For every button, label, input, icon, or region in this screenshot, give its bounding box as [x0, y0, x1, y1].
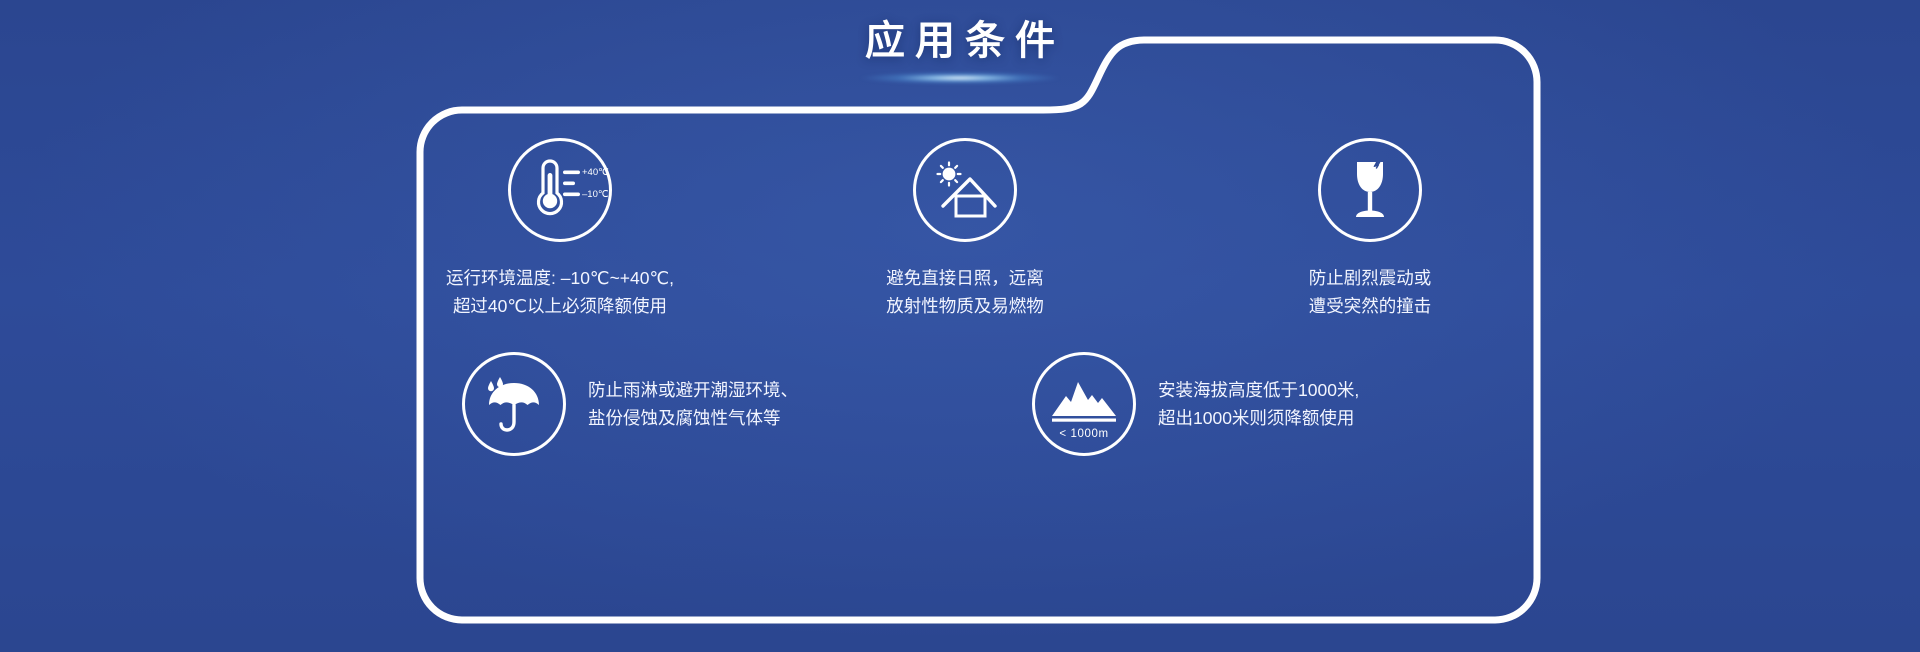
conditions-row-2: 防止雨淋或避开潮湿环境、 盐份侵蚀及腐蚀性气体等 < 1000m 安装海拔高度低… — [462, 352, 1472, 456]
condition-caption-moisture: 防止雨淋或避开潮湿环境、 盐份侵蚀及腐蚀性气体等 — [588, 376, 798, 433]
condition-caption-vibration: 防止剧烈震动或 遭受突然的撞击 — [1309, 264, 1432, 321]
fragile-wine-glass-icon — [1344, 158, 1396, 222]
altitude-icon-label: < 1000m — [1035, 428, 1133, 440]
fragile-wine-glass-icon-circle — [1318, 138, 1422, 242]
condition-caption-temperature: 运行环境温度: –10℃~+40℃, 超过40℃以上必须降额使用 — [446, 264, 674, 321]
sun-over-house-icon-circle — [913, 138, 1017, 242]
condition-item-altitude: < 1000m 安装海拔高度低于1000米, 超出1000米则须降额使用 — [1032, 352, 1472, 456]
mountain-altitude-icon — [1048, 376, 1120, 424]
thermometer-icon: +40℃ –10℃ — [525, 160, 595, 220]
umbrella-rain-icon-circle — [462, 352, 566, 456]
condition-item-moisture: 防止雨淋或避开潮湿环境、 盐份侵蚀及腐蚀性气体等 — [462, 352, 902, 456]
sun-over-house-icon — [932, 161, 998, 219]
thermometer-icon-circle: +40℃ –10℃ — [508, 138, 612, 242]
thermometer-high-label: +40℃ — [582, 167, 609, 178]
umbrella-rain-icon — [481, 373, 547, 435]
condition-item-temperature: +40℃ –10℃ 运行环境温度: –10℃~+40℃, 超过40℃以上必须降额… — [410, 138, 710, 321]
condition-caption-sunlight: 避免直接日照，远离 放射性物质及易燃物 — [886, 264, 1044, 321]
mountain-altitude-icon-circle: < 1000m — [1032, 352, 1136, 456]
title-glow-underline — [830, 70, 1090, 86]
condition-item-sunlight: 避免直接日照，远离 放射性物质及易燃物 — [815, 138, 1115, 321]
condition-item-vibration: 防止剧烈震动或 遭受突然的撞击 — [1220, 138, 1520, 321]
thermometer-low-label: –10℃ — [582, 189, 609, 200]
conditions-content: +40℃ –10℃ 运行环境温度: –10℃~+40℃, 超过40℃以上必须降额… — [410, 120, 1520, 540]
condition-caption-altitude: 安装海拔高度低于1000米, 超出1000米则须降额使用 — [1158, 376, 1359, 433]
page-title: 应用条件 — [855, 16, 1065, 66]
conditions-row-1: +40℃ –10℃ 运行环境温度: –10℃~+40℃, 超过40℃以上必须降额… — [410, 138, 1520, 321]
title-block: 应用条件 — [0, 16, 1920, 66]
